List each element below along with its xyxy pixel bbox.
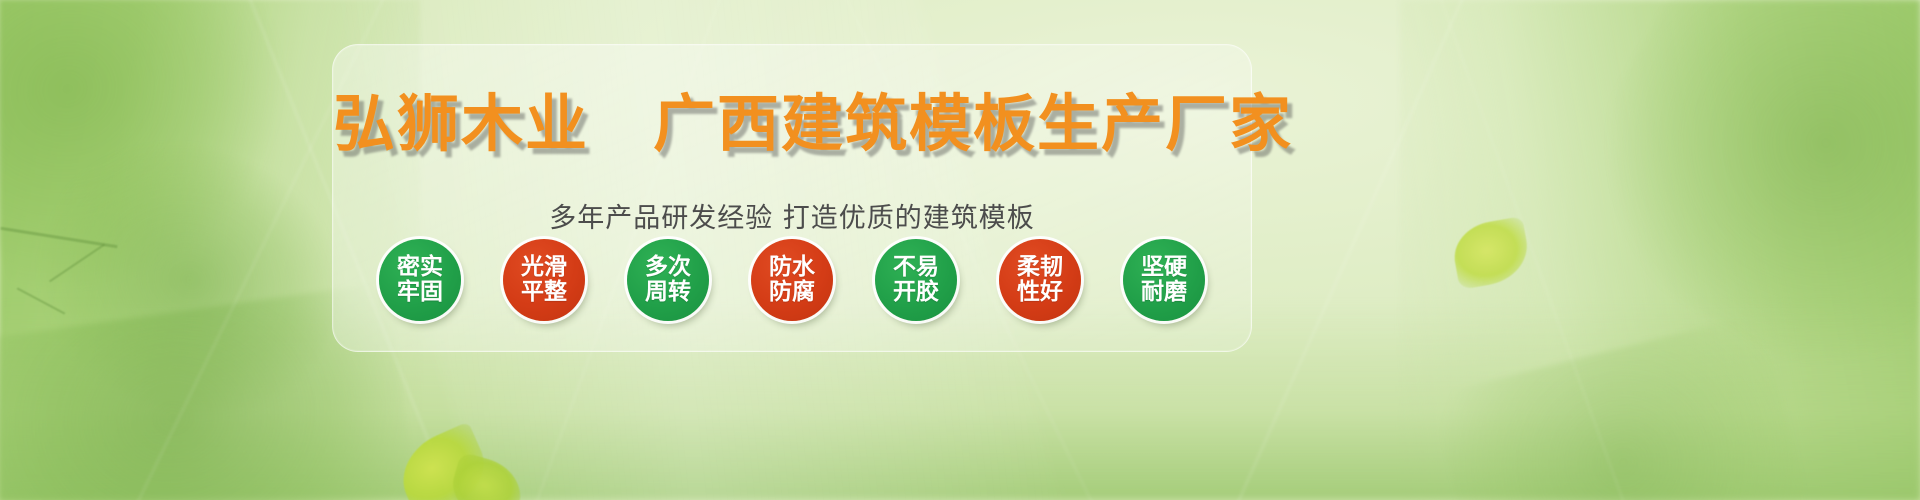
content-panel: 弘狮木业 广西建筑模板生产厂家 多年产品研发经验 打造优质的建筑模板 密实 牢固… <box>332 44 1252 352</box>
badge-line-1: 不易 <box>893 255 939 280</box>
promo-banner: 弘狮木业 广西建筑模板生产厂家 多年产品研发经验 打造优质的建筑模板 密实 牢固… <box>0 0 1920 500</box>
badge-line-1: 坚硬 <box>1141 255 1187 280</box>
badge-line-2: 性好 <box>1017 280 1063 305</box>
feature-badge: 柔韧 性好 <box>999 239 1081 321</box>
badge-line-2: 牢固 <box>397 280 443 305</box>
feature-badge-list: 密实 牢固 光滑 平整 多次 周转 防水 防腐 不易 开胶 柔韧 性好 <box>379 239 1205 321</box>
badge-line-1: 多次 <box>645 255 691 280</box>
badge-line-2: 耐磨 <box>1141 280 1187 305</box>
badge-line-1: 柔韧 <box>1017 255 1063 280</box>
badge-line-2: 周转 <box>645 280 691 305</box>
feature-badge: 光滑 平整 <box>503 239 585 321</box>
banner-subtitle: 多年产品研发经验 打造优质的建筑模板 <box>333 205 1251 232</box>
feature-badge: 多次 周转 <box>627 239 709 321</box>
badge-line-1: 防水 <box>769 255 815 280</box>
badge-line-2: 开胶 <box>893 280 939 305</box>
badge-line-2: 防腐 <box>769 280 815 305</box>
feature-badge: 防水 防腐 <box>751 239 833 321</box>
feature-badge: 坚硬 耐磨 <box>1123 239 1205 321</box>
badge-line-1: 光滑 <box>521 255 567 280</box>
feature-badge: 不易 开胶 <box>875 239 957 321</box>
badge-line-2: 平整 <box>521 280 567 305</box>
banner-title: 弘狮木业 广西建筑模板生产厂家 <box>333 93 1251 155</box>
badge-line-1: 密实 <box>397 255 443 280</box>
feature-badge: 密实 牢固 <box>379 239 461 321</box>
